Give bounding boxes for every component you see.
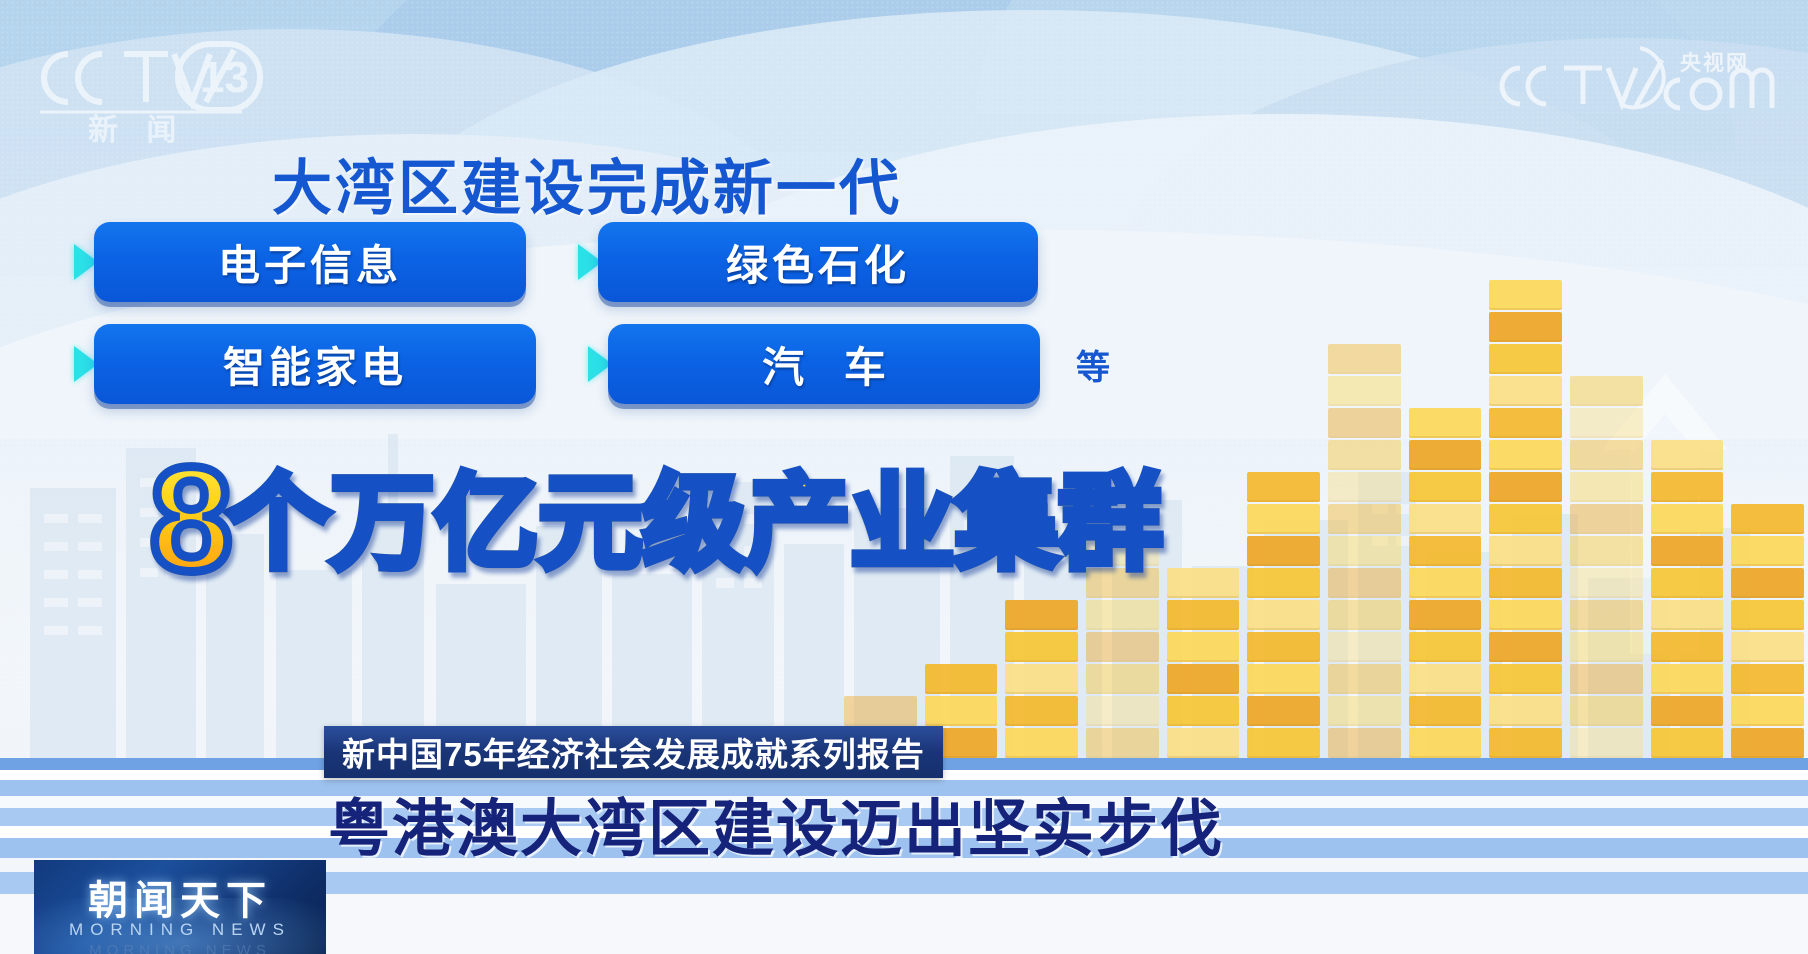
- lower-third-title: 粤港澳大湾区建设迈出坚实步伐: [328, 778, 1224, 868]
- coin: [1651, 696, 1724, 726]
- coin: [1489, 472, 1562, 502]
- coin: [1651, 472, 1724, 502]
- coin: [1489, 440, 1562, 470]
- industry-pill-smart-appliances[interactable]: 智能家电: [94, 324, 536, 404]
- coin: [1731, 504, 1804, 534]
- coin: [1651, 600, 1724, 630]
- coin: [1167, 568, 1240, 598]
- coin: [1489, 376, 1562, 406]
- industry-pill-row-1: 电子信息 绿色石化: [74, 222, 1110, 302]
- program-name-en: MORNING NEWS: [34, 920, 326, 940]
- coin: [1409, 408, 1482, 438]
- coin: [1086, 696, 1159, 726]
- coin: [1247, 696, 1320, 726]
- coin: [1409, 440, 1482, 470]
- coin: [844, 696, 917, 726]
- coin: [1570, 600, 1643, 630]
- stat-number: 8: [150, 452, 232, 588]
- coin: [1005, 632, 1078, 662]
- coin: [1651, 632, 1724, 662]
- coin: [925, 696, 998, 726]
- coin: [1409, 536, 1482, 566]
- coin: [1731, 536, 1804, 566]
- coin: [1328, 728, 1401, 758]
- coin: [1651, 568, 1724, 598]
- coin: [1086, 632, 1159, 662]
- coin: [1651, 440, 1724, 470]
- coin: [1086, 600, 1159, 630]
- coin-stack: [1167, 566, 1240, 758]
- coin: [1489, 568, 1562, 598]
- coin: [1489, 728, 1562, 758]
- cctv13-channel-logo: 13 新 闻: [28, 36, 268, 146]
- coin: [1328, 472, 1401, 502]
- broadcast-frame: 13 新 闻 央视网 大湾区建设完成新一代 电子信息 绿色石化: [0, 0, 1808, 954]
- industry-pill-grid: 电子信息 绿色石化 智能家电 汽 车 等: [74, 222, 1110, 426]
- coin-stack: [1570, 374, 1643, 758]
- coin: [1005, 696, 1078, 726]
- coin: [1247, 536, 1320, 566]
- coin: [1086, 728, 1159, 758]
- coin: [1409, 472, 1482, 502]
- coin: [1489, 600, 1562, 630]
- program-name-cn: 朝闻天下: [34, 868, 326, 926]
- stat-block: 8 个万亿元级产业集群: [150, 452, 1162, 588]
- coin: [1570, 472, 1643, 502]
- coin: [1005, 664, 1078, 694]
- coin: [1489, 664, 1562, 694]
- coin: [1086, 664, 1159, 694]
- coin: [1731, 696, 1804, 726]
- coin: [1167, 664, 1240, 694]
- program-logo-box: 朝闻天下 MORNING NEWS MORNING NEWS: [34, 860, 326, 954]
- coin: [1167, 600, 1240, 630]
- graphic-headline: 大湾区建设完成新一代: [272, 140, 902, 227]
- coin-stack: [1651, 438, 1724, 758]
- coin: [1409, 728, 1482, 758]
- coin: [1247, 504, 1320, 534]
- industry-pill-row-2: 智能家电 汽 车 等: [74, 324, 1110, 404]
- program-name-en-reflection: MORNING NEWS: [34, 942, 326, 954]
- cctv-com-cn-label: 央视网: [1680, 51, 1749, 75]
- industry-pill-green-petrochemical[interactable]: 绿色石化: [598, 222, 1038, 302]
- coin: [1489, 344, 1562, 374]
- coin: [1328, 600, 1401, 630]
- coin: [1570, 696, 1643, 726]
- coin: [1570, 728, 1643, 758]
- coin: [1247, 728, 1320, 758]
- coin: [1570, 504, 1643, 534]
- coin: [1570, 536, 1643, 566]
- coin: [1409, 504, 1482, 534]
- coin: [1247, 600, 1320, 630]
- cctv13-sub-label: 新 闻: [88, 114, 186, 146]
- coin: [1409, 600, 1482, 630]
- coin: [1731, 568, 1804, 598]
- coin: [1328, 632, 1401, 662]
- coin: [1328, 696, 1401, 726]
- coin: [1167, 696, 1240, 726]
- coin: [1328, 568, 1401, 598]
- coin: [1570, 632, 1643, 662]
- coin: [1651, 728, 1724, 758]
- coin-stack: [1328, 342, 1401, 758]
- coin: [1489, 280, 1562, 310]
- coin: [1731, 600, 1804, 630]
- coin: [1328, 376, 1401, 406]
- coin: [1409, 632, 1482, 662]
- coin: [1328, 536, 1401, 566]
- coin: [1570, 376, 1643, 406]
- stat-unit-text: 个万亿元级产业集群: [226, 472, 1162, 576]
- coin: [1731, 632, 1804, 662]
- coin: [1570, 440, 1643, 470]
- coin: [1570, 664, 1643, 694]
- coin: [1651, 536, 1724, 566]
- coin-stack: [1247, 470, 1320, 758]
- coin-stack: [1731, 502, 1804, 758]
- coin: [1489, 408, 1562, 438]
- svg-text:13: 13: [200, 53, 249, 102]
- coin-stack: [1005, 598, 1078, 758]
- coin: [1489, 632, 1562, 662]
- coin: [1570, 408, 1643, 438]
- etc-label: 等: [1076, 340, 1110, 389]
- coin: [1247, 632, 1320, 662]
- coin: [1409, 696, 1482, 726]
- coin: [1247, 664, 1320, 694]
- coin: [1409, 664, 1482, 694]
- coin: [1328, 408, 1401, 438]
- coin-stack: [1409, 406, 1482, 758]
- coin: [1731, 728, 1804, 758]
- coin: [1328, 440, 1401, 470]
- coin: [1489, 312, 1562, 342]
- coin: [1651, 504, 1724, 534]
- coin: [1328, 664, 1401, 694]
- coin: [1005, 600, 1078, 630]
- coin: [1489, 696, 1562, 726]
- coin: [1651, 664, 1724, 694]
- coin: [1409, 568, 1482, 598]
- coin: [1570, 568, 1643, 598]
- cctv-com-watermark: 央视网: [1484, 34, 1784, 126]
- coin: [1247, 472, 1320, 502]
- coin: [1489, 504, 1562, 534]
- coin: [1167, 632, 1240, 662]
- lower-third-kicker: 新中国75年经济社会发展成就系列报告: [324, 726, 943, 778]
- coin-stack: [1489, 278, 1562, 758]
- coin: [1247, 568, 1320, 598]
- coin: [925, 664, 998, 694]
- industry-pill-automobile[interactable]: 汽 车: [608, 324, 1040, 404]
- coin: [1731, 664, 1804, 694]
- coin: [1167, 728, 1240, 758]
- industry-pill-electronics[interactable]: 电子信息: [94, 222, 526, 302]
- coin: [1328, 344, 1401, 374]
- coin: [1328, 504, 1401, 534]
- coin: [1005, 728, 1078, 758]
- coin: [1489, 536, 1562, 566]
